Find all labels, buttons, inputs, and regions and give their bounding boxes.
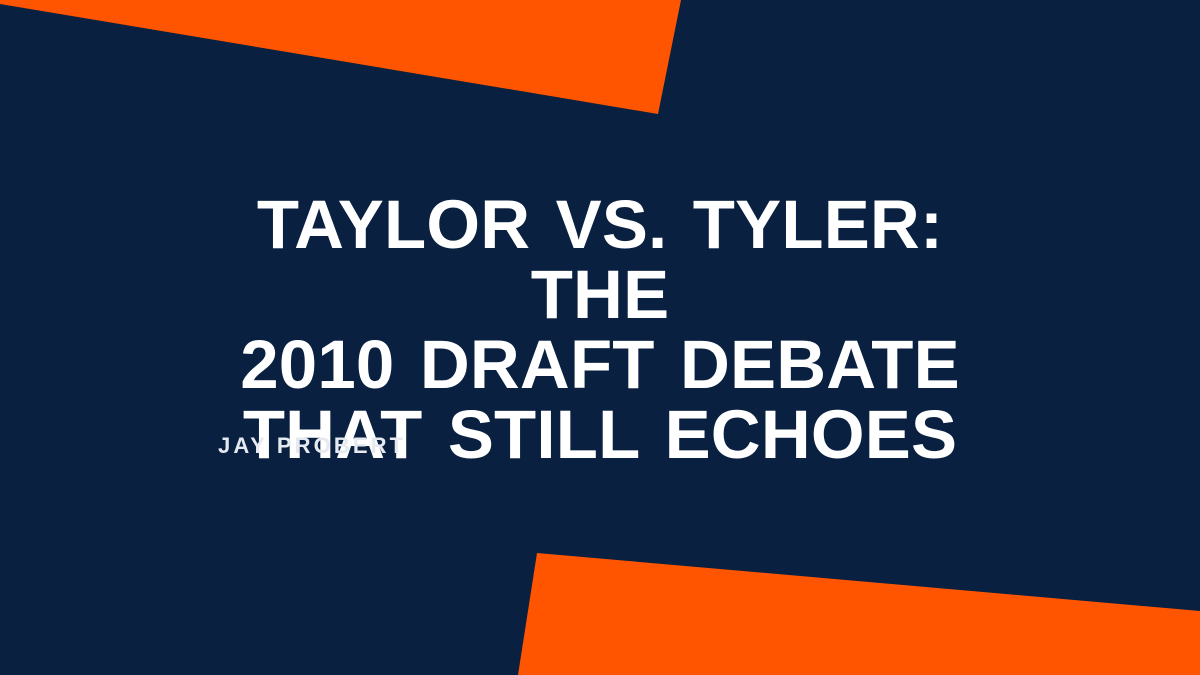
slide-text-block: Taylor vs. Tyler: The 2010 Draft Debate … bbox=[0, 0, 1200, 675]
page-title: Taylor vs. Tyler: The 2010 Draft Debate … bbox=[176, 190, 1024, 470]
author-subtitle: Jay Probert bbox=[218, 432, 406, 460]
title-slide: Taylor vs. Tyler: The 2010 Draft Debate … bbox=[0, 0, 1200, 675]
